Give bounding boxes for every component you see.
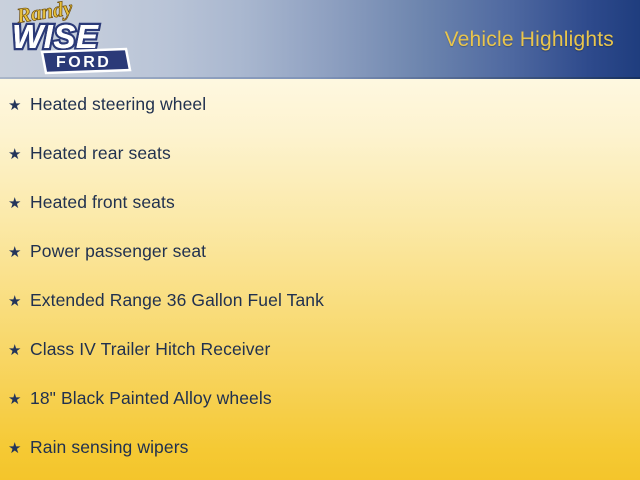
list-item: ★ Extended Range 36 Gallon Fuel Tank — [0, 290, 640, 339]
list-item: ★ Heated front seats — [0, 192, 640, 241]
vehicle-highlights-slide: Randy WISE WISE FORD Vehicle Highlights … — [0, 0, 640, 480]
list-item: ★ 18" Black Painted Alloy wheels — [0, 388, 640, 437]
list-item: ★ Power passenger seat — [0, 241, 640, 290]
star-icon: ★ — [8, 245, 30, 260]
star-icon: ★ — [8, 98, 30, 113]
list-item: ★ Rain sensing wipers — [0, 437, 640, 480]
list-item-label: Heated front seats — [30, 192, 175, 213]
star-icon: ★ — [8, 147, 30, 162]
list-item: ★ Heated steering wheel — [0, 94, 640, 143]
list-item-label: Rain sensing wipers — [30, 437, 189, 458]
header-divider — [0, 77, 640, 79]
page-title: Vehicle Highlights — [445, 28, 614, 52]
list-item-label: Extended Range 36 Gallon Fuel Tank — [30, 290, 324, 311]
list-item-label: Heated steering wheel — [30, 94, 206, 115]
list-item-label: Class IV Trailer Hitch Receiver — [30, 339, 270, 360]
logo-banner-ford: FORD — [42, 49, 130, 73]
randy-wise-ford-logo: Randy WISE WISE FORD — [4, 0, 136, 79]
slide-header: Randy WISE WISE FORD Vehicle Highlights — [0, 0, 640, 79]
star-icon: ★ — [8, 343, 30, 358]
list-item-label: Heated rear seats — [30, 143, 171, 164]
list-item: ★ Heated rear seats — [0, 143, 640, 192]
list-item-label: 18" Black Painted Alloy wheels — [30, 388, 272, 409]
star-icon: ★ — [8, 196, 30, 211]
list-item: ★ Class IV Trailer Hitch Receiver — [0, 339, 640, 388]
star-icon: ★ — [8, 294, 30, 309]
star-icon: ★ — [8, 441, 30, 456]
list-item-label: Power passenger seat — [30, 241, 206, 262]
vehicle-highlights-list: ★ Heated steering wheel ★ Heated rear se… — [0, 94, 640, 480]
star-icon: ★ — [8, 392, 30, 407]
svg-text:FORD: FORD — [56, 54, 111, 71]
